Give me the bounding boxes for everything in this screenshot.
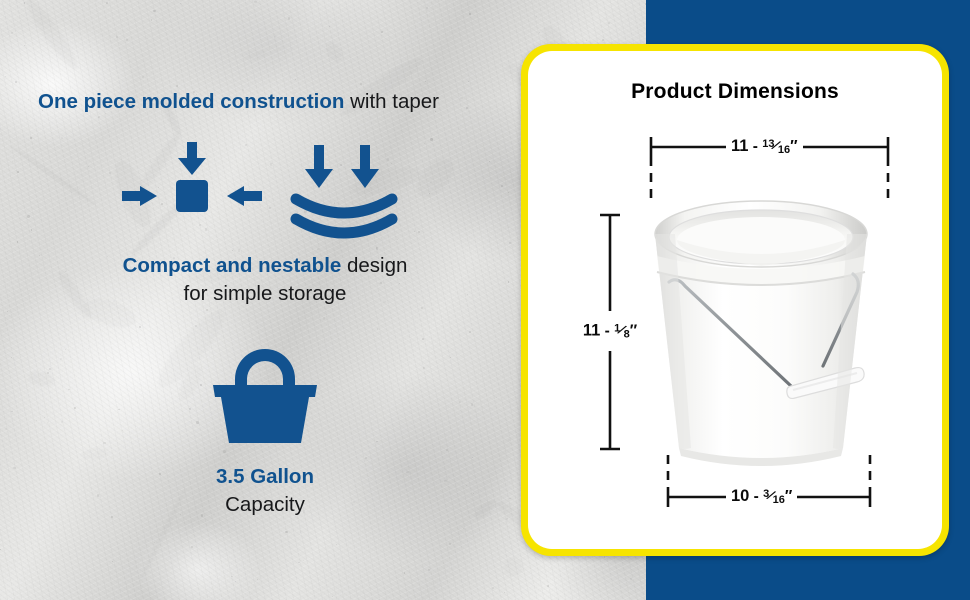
bucket-product-photo bbox=[641, 190, 881, 475]
bucket-icon bbox=[205, 345, 325, 445]
dimension-label-top-width: 11 - 13⁄16″ bbox=[726, 137, 803, 156]
bottom-width-denominator: 16 bbox=[773, 494, 785, 506]
feature-1-highlight: One piece molded construction bbox=[38, 90, 344, 113]
feature-1-rest: with taper bbox=[344, 90, 439, 113]
bottom-width-unit: ″ bbox=[785, 488, 792, 505]
top-width-dash: - bbox=[753, 138, 758, 155]
top-width-denominator: 16 bbox=[778, 144, 790, 156]
feature-3-line-two: Capacity bbox=[30, 491, 500, 519]
feature-3-text: 3.5 Gallon Capacity bbox=[30, 463, 500, 518]
feature-2-rest: design bbox=[341, 254, 407, 277]
bottom-width-dash: - bbox=[754, 488, 759, 505]
top-width-fraction: 13⁄16 bbox=[762, 139, 790, 154]
feature-2-line-one: Compact and nestable design bbox=[30, 252, 500, 280]
top-width-whole: 11 bbox=[731, 137, 748, 155]
feature-1-text: One piece molded construction with taper bbox=[38, 90, 518, 114]
top-width-unit: ″ bbox=[790, 138, 797, 155]
height-dash: - bbox=[605, 323, 610, 340]
height-denominator: 8 bbox=[624, 329, 630, 341]
nesting-stack-icon bbox=[288, 145, 400, 240]
height-unit: ″ bbox=[630, 323, 637, 340]
bottom-width-whole: 10 bbox=[731, 487, 749, 505]
bottom-width-fraction: 3⁄16 bbox=[763, 489, 785, 504]
feature-3-highlight: 3.5 Gallon bbox=[30, 463, 500, 491]
dimension-label-bottom-width: 10 - 3⁄16″ bbox=[726, 487, 797, 506]
compression-mold-icon bbox=[122, 142, 262, 242]
feature-2-line-two: for simple storage bbox=[30, 280, 500, 308]
infographic-canvas: One piece molded construction with taper bbox=[0, 0, 970, 600]
dimension-diagram: 11 - 13⁄16″ 11 - 1⁄8″ 10 - 3⁄16″ bbox=[528, 51, 942, 549]
dimension-label-height: 11 - 1⁄8″ bbox=[578, 322, 642, 341]
height-fraction: 1⁄8 bbox=[614, 324, 630, 339]
feature-2-text: Compact and nestable design for simple s… bbox=[30, 252, 500, 307]
height-whole: 11 bbox=[583, 322, 600, 340]
feature-2-highlight: Compact and nestable bbox=[123, 254, 342, 277]
